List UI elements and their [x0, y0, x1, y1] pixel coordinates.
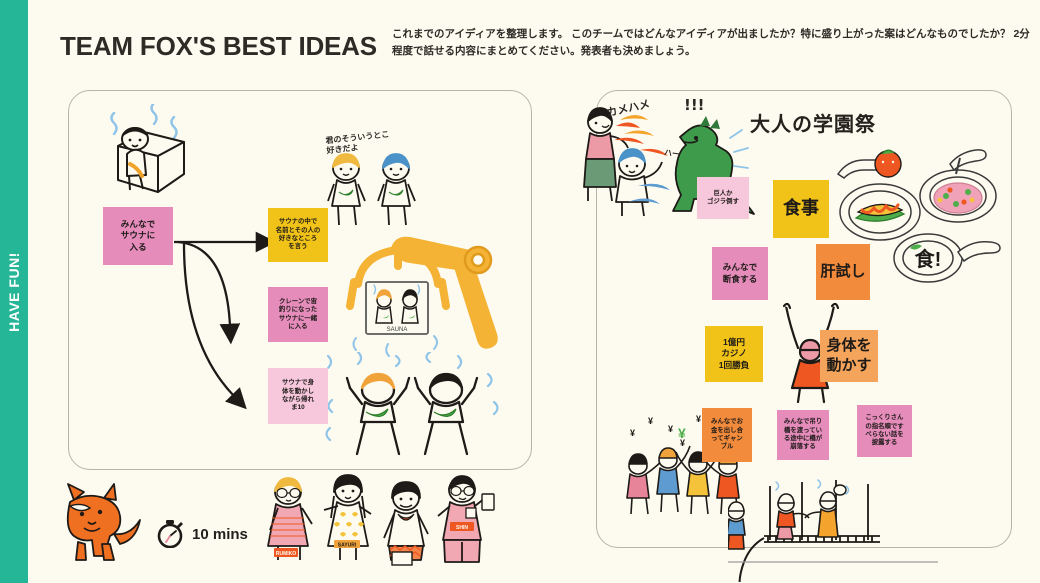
sticky-note[interactable]: クレーンで宙 釣りになった サウナに一緒 に入る	[268, 287, 328, 342]
page-subtitle: これまでのアイディアを整理します。 このチームではどんなアイディアが出ましたか？…	[392, 26, 1040, 60]
sticky-note[interactable]: 巨人か ゴジラ倒す	[697, 177, 749, 219]
svg-text:¥: ¥	[630, 428, 635, 438]
timer-label: 10 mins	[192, 526, 248, 543]
sticky-note[interactable]: 1億円 カジノ 1回勝負	[705, 326, 763, 382]
sticky-note[interactable]: サウナで身 体を動かし ながら帰れ ま10	[268, 368, 328, 424]
svg-text:¥: ¥	[696, 414, 701, 424]
sticky-note[interactable]: サウナの中で 名前とその人の 好きなところ を言う	[268, 208, 328, 262]
svg-text:¥: ¥	[678, 425, 686, 441]
sticky-note[interactable]: みんなで 断食する	[712, 247, 768, 300]
dancing-people-illustration	[318, 352, 514, 460]
page-title: TEAM FOX'S BEST IDEAS	[60, 31, 377, 62]
person-name-label: SHIN	[456, 525, 468, 531]
have-fun-label: HAVE FUN!	[6, 252, 22, 332]
svg-text:¥: ¥	[668, 424, 673, 434]
sticky-note[interactable]: みんなでお 金を出し合 ってギャン ブル	[702, 408, 752, 462]
sticky-note[interactable]: 食事	[773, 180, 829, 238]
person-name-label: RUMIKO	[276, 551, 296, 557]
handwriting-exclaim: !!!	[684, 96, 705, 114]
sticky-note[interactable]: こっくりさん の指名順です べらない話を 披露する	[857, 405, 912, 457]
sticky-note[interactable]: 肝試し	[816, 244, 870, 300]
sticky-note[interactable]: みんなで吊り 橋を渡ってい る途中に橋が 崩落する	[777, 410, 829, 460]
handwriting-haa: ハー	[663, 147, 680, 160]
sticky-note[interactable]: 身体を 動かす	[820, 330, 878, 382]
crane-machine-illustration: SAUNA	[330, 212, 530, 362]
right-panel-heading: 大人の学園祭	[750, 108, 876, 137]
have-fun-banner: HAVE FUN!	[0, 0, 28, 583]
sticky-note[interactable]: みんなで サウナに 入る	[103, 207, 173, 265]
crane-sauna-label: SAUNA	[387, 327, 408, 333]
fox-mascot-illustration	[58, 482, 146, 562]
timer-row: 10 mins	[157, 520, 248, 548]
person-name-label: SAYURI	[338, 543, 357, 549]
sauna-person-illustration	[96, 104, 206, 194]
suspension-bridge-illustration	[728, 462, 938, 582]
stopwatch-icon	[157, 520, 183, 548]
plate-text: 食!	[915, 247, 942, 271]
flow-arrows	[172, 228, 282, 418]
team-members-illustration: RUMIKO SAYURI	[258, 470, 498, 566]
svg-text:¥: ¥	[648, 416, 653, 426]
